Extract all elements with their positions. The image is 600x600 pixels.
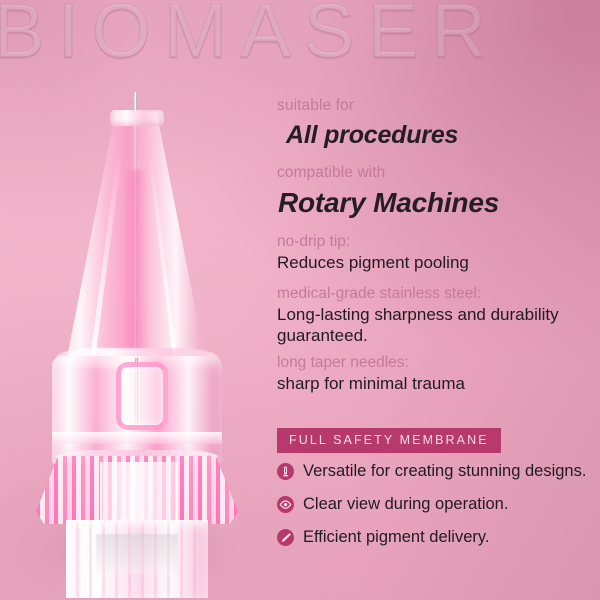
list-item: Efficient pigment delivery. bbox=[277, 528, 599, 548]
list-item-label: Versatile for creating stunning designs. bbox=[303, 462, 586, 482]
barrel-band bbox=[52, 432, 222, 444]
pen-nib-icon bbox=[277, 529, 294, 546]
safety-badge-wrap: FULL SAFETY MEMBRANE bbox=[277, 428, 501, 453]
flange-inner-core bbox=[100, 462, 178, 520]
cone-collar bbox=[110, 110, 164, 126]
feature-long-taper-needles: long taper needles: sharp for minimal tr… bbox=[277, 353, 597, 394]
eye-icon bbox=[277, 496, 294, 513]
product-feature-card: BIOMASER suitable for All procedures com… bbox=[0, 0, 600, 600]
highlight-eyebrow: compatible with bbox=[277, 163, 499, 182]
feature-value: Long-lasting sharpness and durability gu… bbox=[277, 304, 597, 347]
feature-value: Reduces pigment pooling bbox=[277, 252, 597, 273]
safety-membrane-window bbox=[116, 362, 168, 430]
list-item-label: Clear view during operation. bbox=[303, 495, 508, 515]
list-item-label: Efficient pigment delivery. bbox=[303, 528, 489, 548]
highlight-heading: All procedures bbox=[286, 122, 458, 150]
highlight-compatible: compatible with Rotary Machines bbox=[277, 163, 499, 219]
cone-core-highlight bbox=[124, 170, 148, 360]
feature-label: medical-grade stainless steel: bbox=[277, 284, 597, 304]
highlight-heading: Rotary Machines bbox=[278, 188, 499, 219]
list-item: Versatile for creating stunning designs. bbox=[277, 462, 599, 482]
highlight-eyebrow: suitable for bbox=[277, 96, 458, 115]
feature-no-drip-tip: no-drip tip: Reduces pigment pooling bbox=[277, 232, 597, 273]
status-badge: FULL SAFETY MEMBRANE bbox=[277, 428, 501, 453]
list-item: Clear view during operation. bbox=[277, 495, 599, 515]
highlight-suitable: suitable for All procedures bbox=[277, 96, 458, 150]
feature-value: sharp for minimal trauma bbox=[277, 373, 597, 394]
feature-stainless-steel: medical-grade stainless steel: Long-last… bbox=[277, 284, 597, 347]
copy-column: suitable for All procedures compatible w… bbox=[276, 0, 600, 600]
feature-label: long taper needles: bbox=[277, 353, 597, 373]
feature-label: no-drip tip: bbox=[277, 232, 597, 252]
safety-bullet-list: Versatile for creating stunning designs.… bbox=[277, 462, 599, 547]
stem-plunger bbox=[96, 534, 178, 574]
cartridge-icon bbox=[277, 463, 294, 480]
product-image-tattoo-cartridge bbox=[0, 0, 275, 600]
